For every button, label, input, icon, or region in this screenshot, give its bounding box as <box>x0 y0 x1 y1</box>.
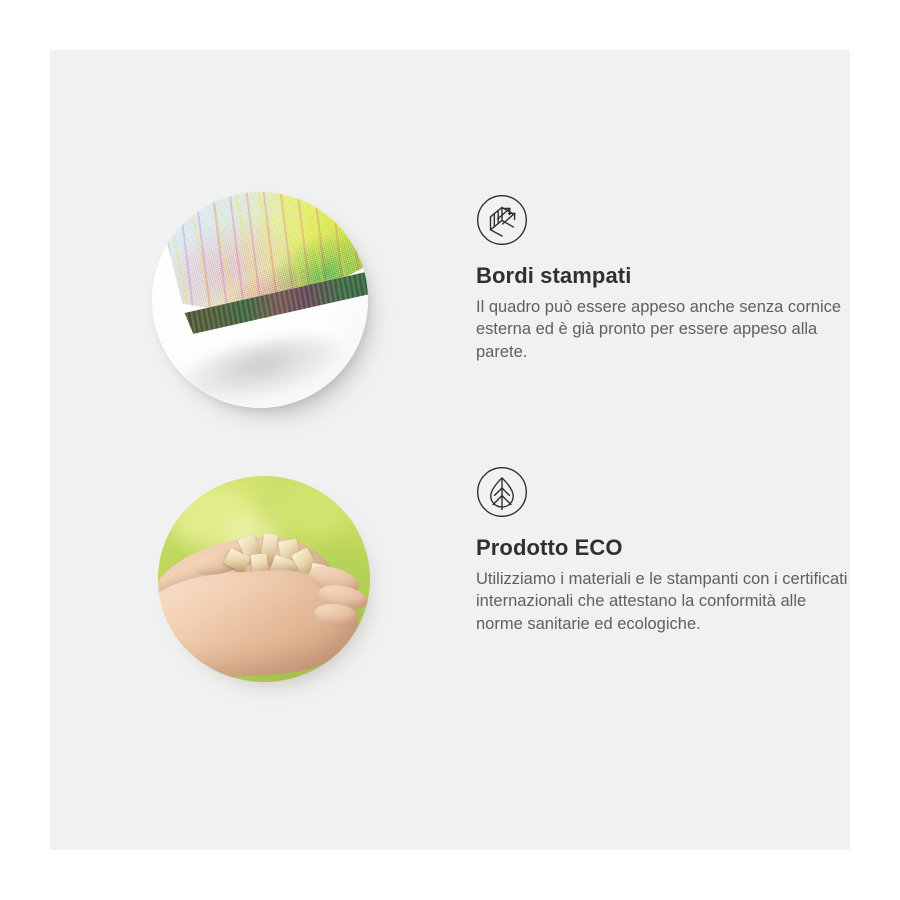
leaf-icon <box>476 466 528 518</box>
feature-description: Il quadro può essere appeso anche senza … <box>476 296 848 364</box>
canvas-wrapped-edge-icon <box>476 194 528 246</box>
feature-title: Bordi stampati <box>476 262 850 290</box>
feature-copy-printed-edges: Bordi stampati Il quadro può essere appe… <box>370 190 850 363</box>
feature-description: Utilizziamo i materiali e le stampanti c… <box>476 568 848 636</box>
canvas-paint-streaks <box>155 192 368 342</box>
feature-block-eco-product: Prodotto ECO Utilizziamo i materiali e l… <box>150 462 850 682</box>
grass-bokeh-2 <box>276 480 354 536</box>
eco-photo-disc <box>158 476 370 682</box>
feature-block-printed-edges: Bordi stampati Il quadro può essere appe… <box>150 190 850 410</box>
white-disc-background <box>152 192 368 408</box>
canvas-corner-photo <box>150 190 370 410</box>
product-feature-page: Bordi stampati Il quadro può essere appe… <box>0 0 900 900</box>
feature-copy-eco-product: Prodotto ECO Utilizziamo i materiali e l… <box>370 462 850 635</box>
feature-title: Prodotto ECO <box>476 534 850 562</box>
hands-wood-chips-photo <box>150 462 370 682</box>
content-panel: Bordi stampati Il quadro può essere appe… <box>50 50 850 850</box>
